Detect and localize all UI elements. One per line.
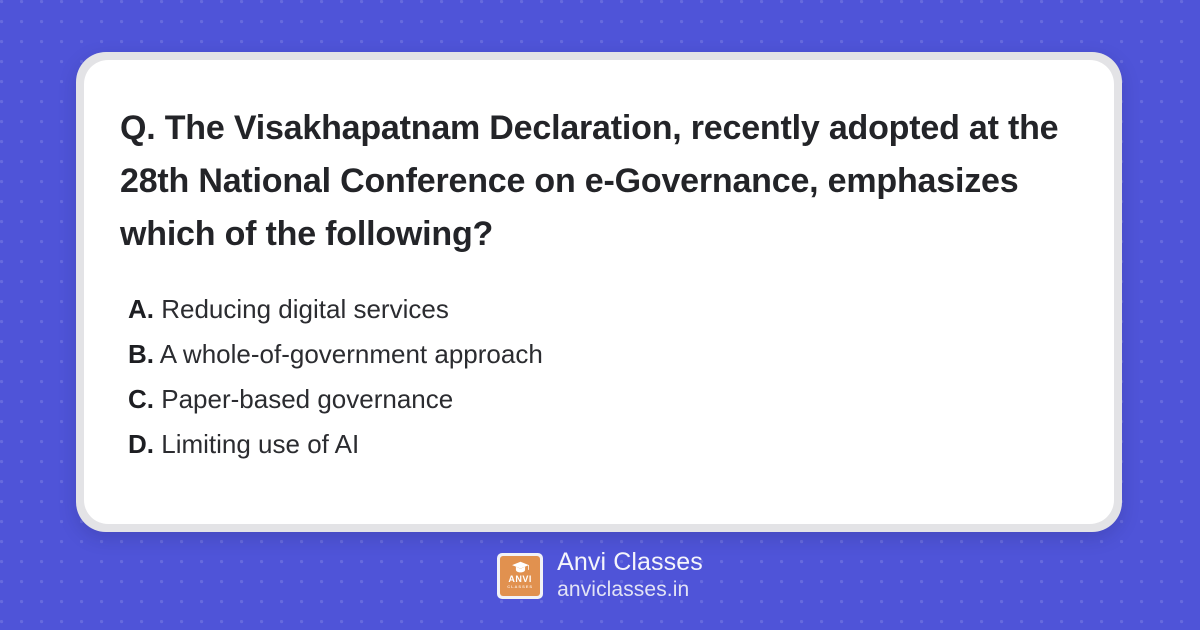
option-d[interactable]: D. Limiting use of AI — [128, 422, 1078, 467]
brand-logo-sub: CLASSES — [507, 584, 533, 590]
option-b-text: A whole-of-government approach — [160, 339, 543, 369]
option-b-letter: B. — [128, 339, 154, 369]
brand-name: Anvi Classes — [557, 548, 703, 577]
graduation-cap-icon — [511, 561, 530, 574]
footer-branding: ANVI CLASSES Anvi Classes anviclasses.in — [0, 548, 1200, 603]
brand-logo-name: ANVI — [508, 575, 532, 584]
question-text: Q. The Visakhapatnam Declaration, recent… — [120, 102, 1070, 261]
option-a-text: Reducing digital services — [161, 294, 449, 324]
option-a[interactable]: A. Reducing digital services — [128, 287, 1078, 332]
option-c-text: Paper-based governance — [161, 384, 453, 414]
question-card: Q. The Visakhapatnam Declaration, recent… — [84, 60, 1114, 524]
brand-url[interactable]: anviclasses.in — [557, 577, 703, 603]
brand-logo: ANVI CLASSES — [497, 553, 543, 599]
option-d-text: Limiting use of AI — [161, 429, 359, 459]
options-list: A. Reducing digital services B. A whole-… — [120, 287, 1078, 467]
brand-logo-inner: ANVI CLASSES — [500, 556, 540, 596]
option-a-letter: A. — [128, 294, 154, 324]
option-d-letter: D. — [128, 429, 154, 459]
brand-text-block: Anvi Classes anviclasses.in — [557, 548, 703, 603]
option-c-letter: C. — [128, 384, 154, 414]
question-card-shadow: Q. The Visakhapatnam Declaration, recent… — [76, 52, 1122, 532]
option-c[interactable]: C. Paper-based governance — [128, 377, 1078, 422]
option-b[interactable]: B. A whole-of-government approach — [128, 332, 1078, 377]
